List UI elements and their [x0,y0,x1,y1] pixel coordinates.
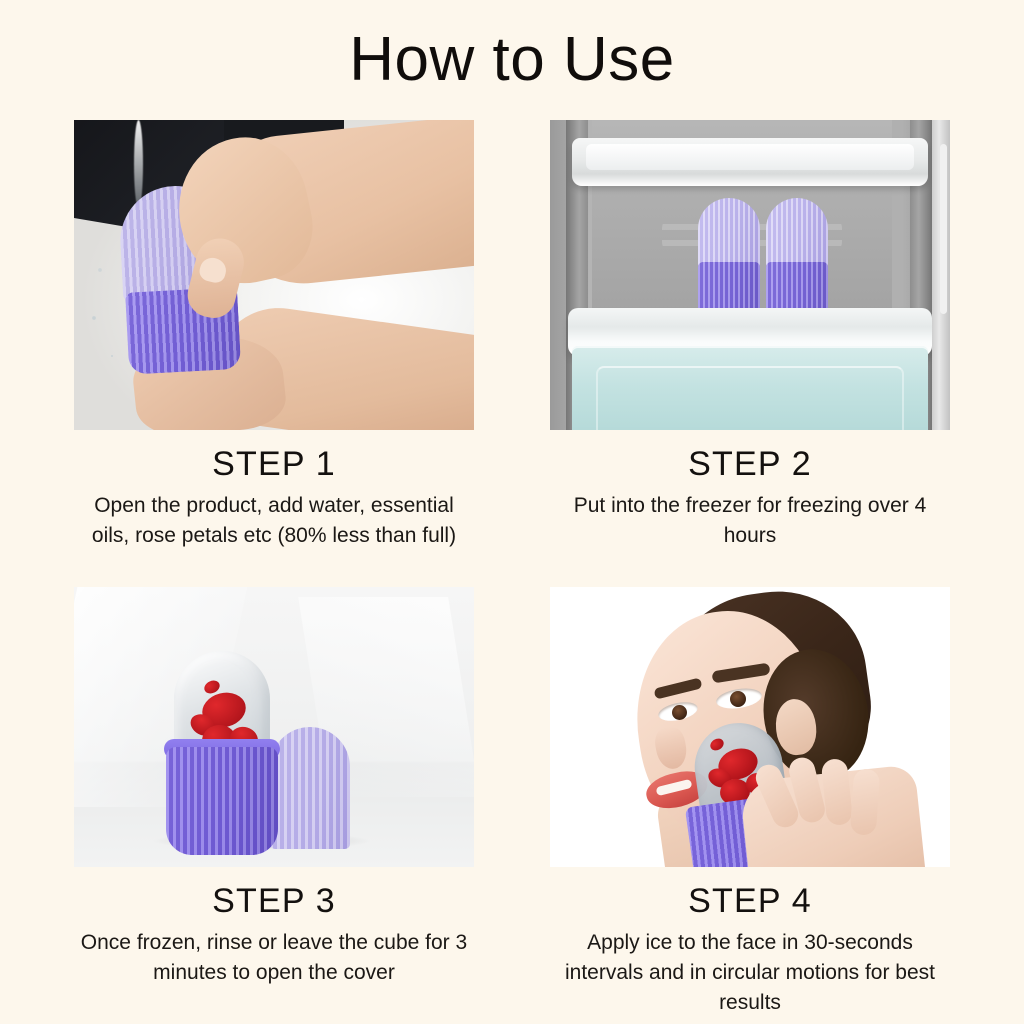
step-4-label: STEP 4 [550,883,950,920]
steps-row-bottom: STEP 3 Once frozen, rinse or leave the c… [74,587,950,1018]
step-4-image [550,587,950,867]
step-2-image [550,120,950,430]
step-4-description: Apply ice to the face in 30-seconds inte… [550,928,950,1017]
steps-row-top: STEP 1 Open the product, add water, esse… [74,120,950,551]
mold-lavender-top [698,198,760,268]
steps-grid: STEP 1 Open the product, add water, esse… [74,120,950,1018]
step-3-label: STEP 3 [74,883,474,920]
fridge-top-shelf [572,138,928,186]
step-2-label: STEP 2 [550,446,950,483]
step-card-1: STEP 1 Open the product, add water, esse… [74,120,474,551]
purple-holder-cup [166,747,278,855]
page-title: How to Use [0,24,1024,95]
mold-lavender-top [766,198,828,268]
ice-mold-right [766,198,828,326]
model-iris-left [672,705,687,720]
step-1-description: Open the product, add water, essential o… [74,491,474,551]
step-3-description: Once frozen, rinse or leave the cube for… [74,928,474,988]
step-2-description: Put into the freezer for freezing over 4… [550,491,950,551]
how-to-use-infographic: How to Use [0,0,1024,1024]
step-card-4: STEP 4 Apply ice to the face in 30-secon… [550,587,950,1018]
ice-mold-left [698,198,760,326]
step-1-label: STEP 1 [74,446,474,483]
fridge-crisper-drawer [572,346,928,430]
model-iris-right [730,691,746,707]
model-finger [850,768,881,836]
step-1-image [74,120,474,430]
step-3-image [74,587,474,867]
step-card-3: STEP 3 Once frozen, rinse or leave the c… [74,587,474,1018]
step-card-2: STEP 2 Put into the freezer for freezing… [550,120,950,551]
fridge-door-seal [940,144,947,314]
detached-lavender-cover [270,727,350,849]
